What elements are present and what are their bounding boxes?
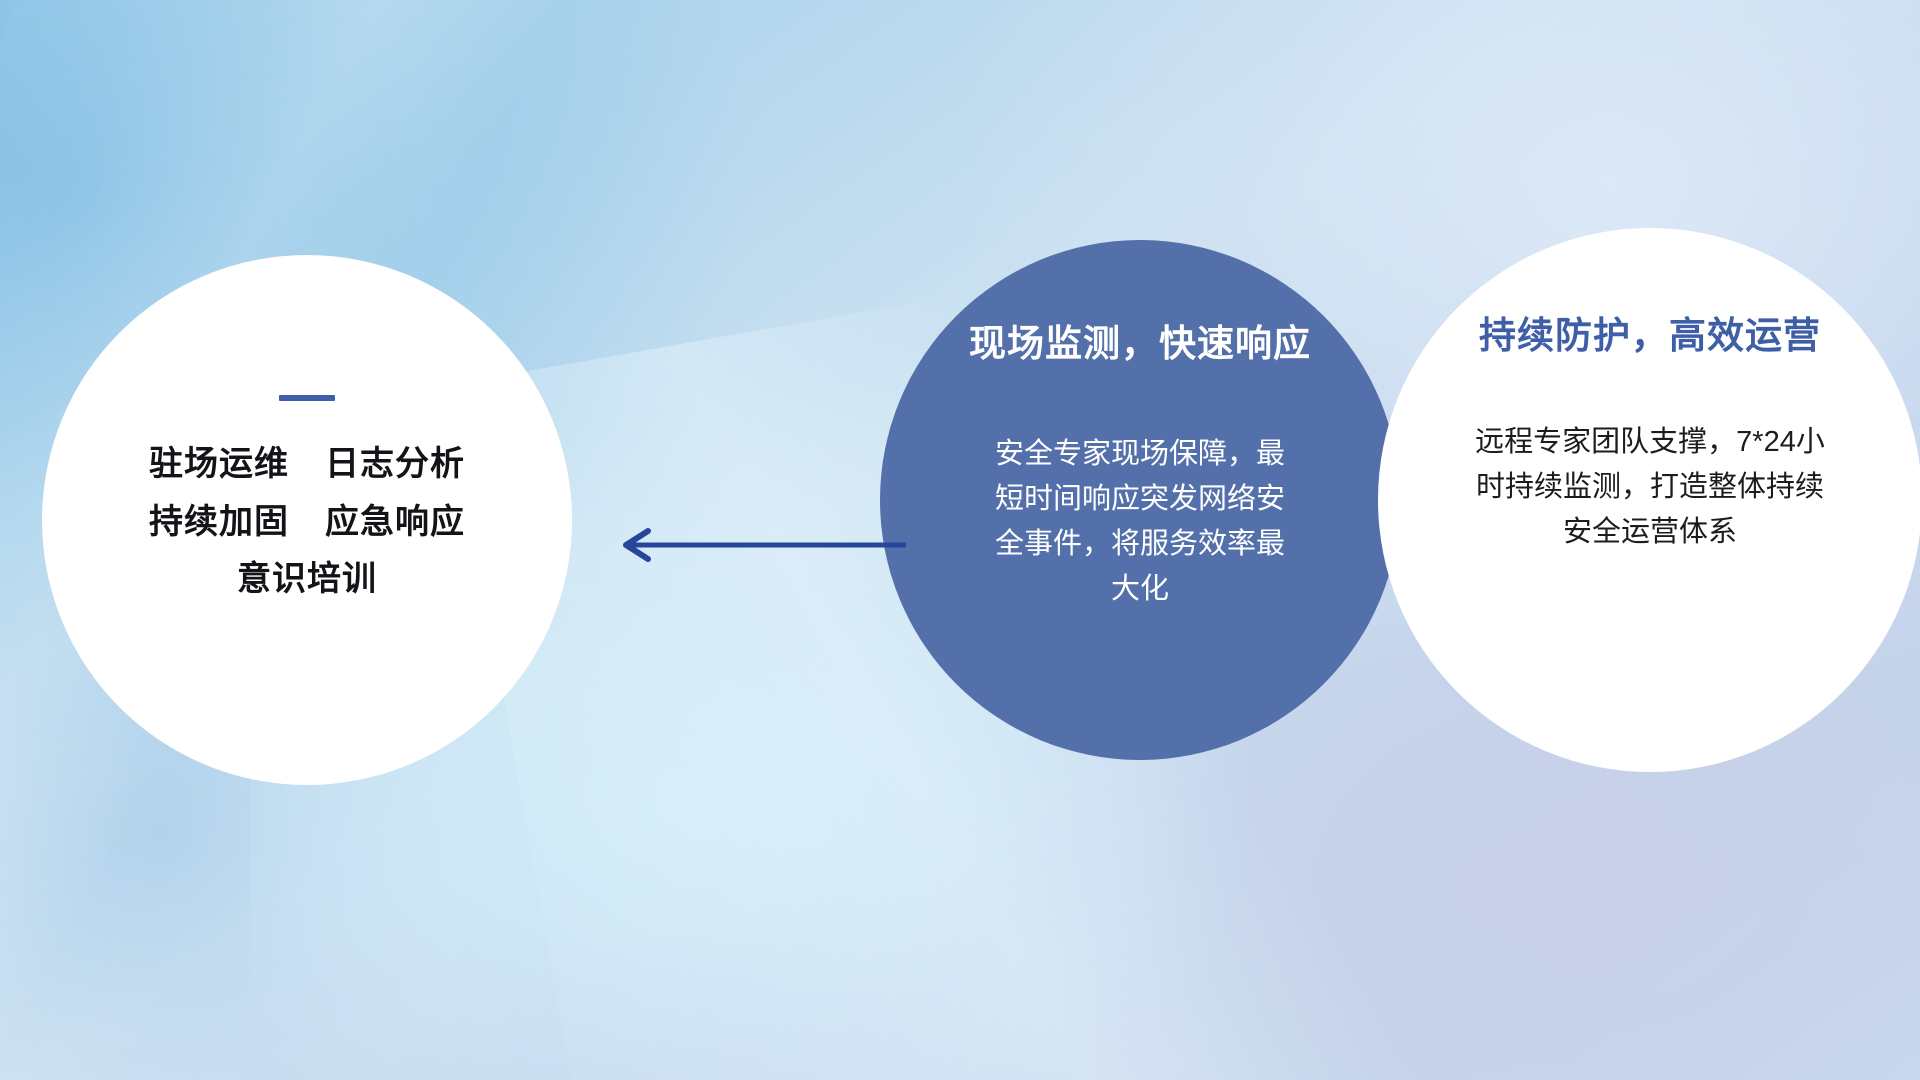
capability-label: 日志分析 xyxy=(325,447,465,483)
card-body-text: 安全专家现场保障，最短时间响应突发网络安全事件，将服务效率最大化 xyxy=(984,432,1296,612)
continuous-protection-circle: 持续防护，高效运营 远程专家团队支撑，7*24小时持续监测，打造整体持续安全运营… xyxy=(1378,228,1920,772)
onsite-monitoring-circle: 现场监测，快速响应 安全专家现场保障，最短时间响应突发网络安全事件，将服务效率最… xyxy=(880,240,1400,760)
list-item: 持续加固应急响应 xyxy=(149,505,465,541)
connector-arrow xyxy=(606,528,906,562)
card-title: 持续防护，高效运营 xyxy=(1479,314,1821,358)
card-body-text: 远程专家团队支撑，7*24小时持续监测，打造整体持续安全运营体系 xyxy=(1475,420,1825,555)
divider-dash xyxy=(279,395,335,401)
service-capabilities-circle: 驻场运维日志分析 持续加固应急响应 意识培训 xyxy=(42,255,572,785)
capability-label: 持续加固 xyxy=(149,503,289,541)
capability-label: 应急响应 xyxy=(325,505,465,541)
arrow-left-icon xyxy=(626,531,906,559)
capability-label: 意识培训 xyxy=(237,560,377,598)
card-title: 现场监测，快速响应 xyxy=(969,322,1311,366)
capability-list: 驻场运维日志分析 持续加固应急响应 意识培训 xyxy=(42,447,572,598)
slide-canvas: 驻场运维日志分析 持续加固应急响应 意识培训 现场监测，快速响应 安全专家现场保… xyxy=(0,0,1920,1080)
list-item: 驻场运维日志分析 xyxy=(149,447,465,483)
list-item: 意识培训 xyxy=(237,562,377,598)
capability-label: 驻场运维 xyxy=(149,445,289,483)
